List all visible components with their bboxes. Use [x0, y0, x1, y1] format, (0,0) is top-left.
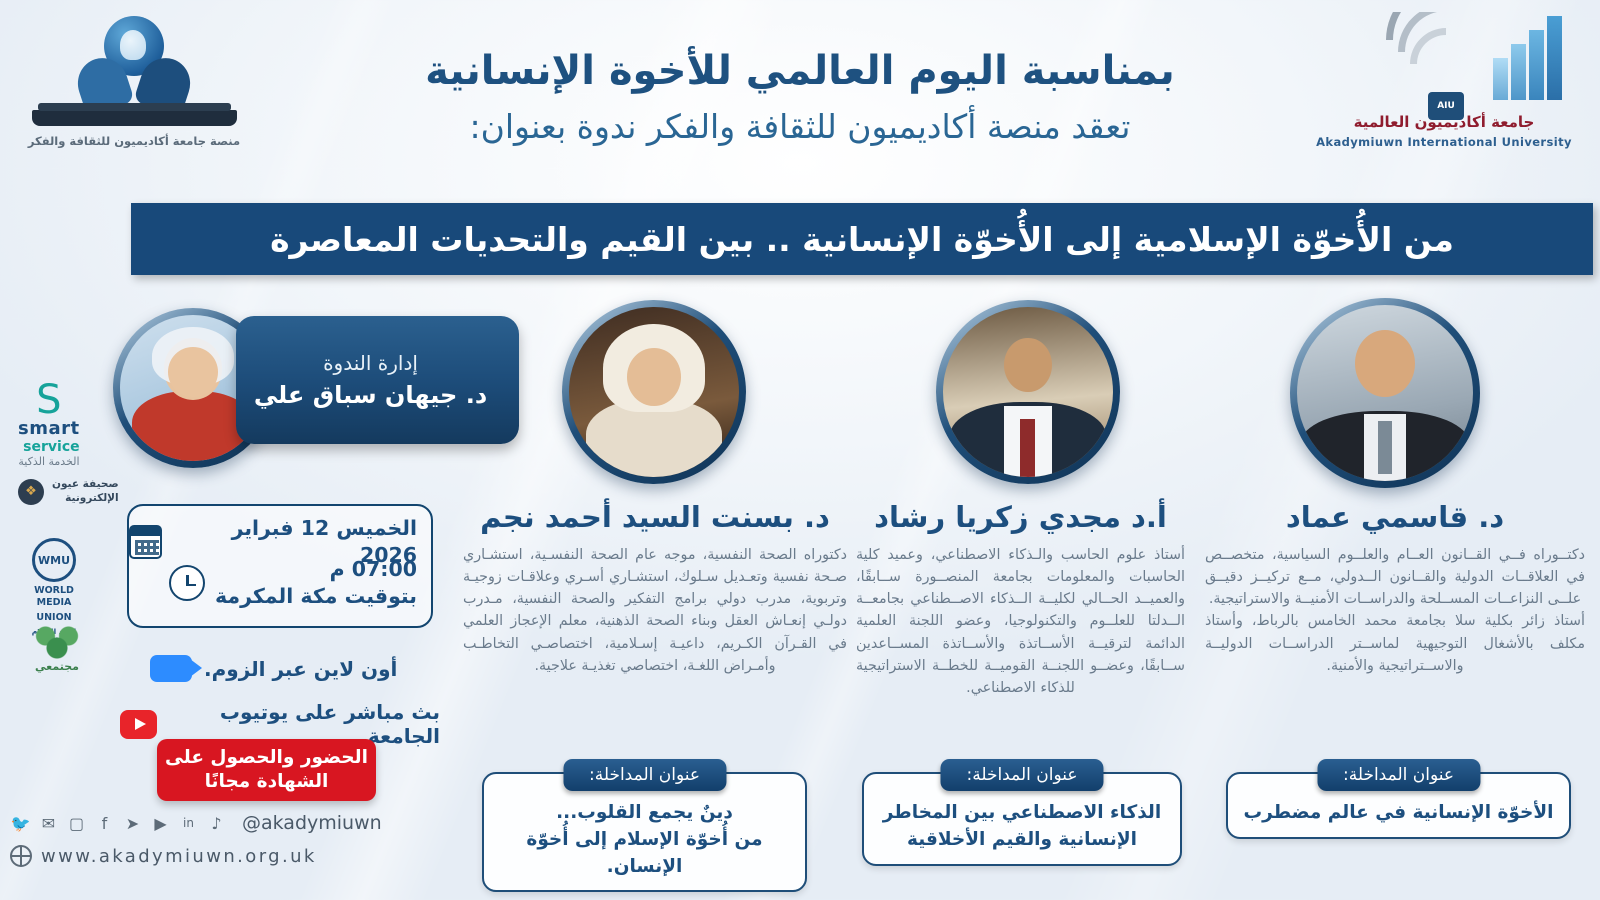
speaker-name: د. قاسمي عماد [1195, 500, 1595, 534]
talk-title: الذكاء الاصطناعي بين المخاطر الإنسانية و… [876, 800, 1168, 854]
speaker-bio: دكتوراه الصحة النفسية، موجه عام الصحة ال… [455, 544, 855, 677]
sponsor-smart-service: S smart service الخدمة الذكية [18, 382, 80, 468]
free-attendance-badge[interactable]: الحضور والحصول على الشهادة مجانًا [157, 739, 376, 801]
email-icon[interactable]: ✉ [38, 813, 59, 834]
poster-header: بمناسبة اليوم العالمي للأخوة الإنسانية ت… [0, 46, 1600, 152]
seminar-title-banner: من الأُخوّة الإسلامية إلى الأُخوّة الإنس… [131, 203, 1593, 275]
zoom-icon[interactable] [150, 655, 192, 682]
zoom-channel-row[interactable]: أون لاين عبر الزوم. [150, 655, 440, 682]
occasion-line: بمناسبة اليوم العالمي للأخوة الإنسانية [0, 46, 1600, 96]
social-handle: @akadymiuwn [242, 812, 382, 834]
youtube-icon[interactable]: ▶ [150, 813, 171, 834]
oyoun-news-line2: الإلكترونية [52, 492, 119, 506]
speaker-photo-qasmi-imad [1290, 298, 1480, 488]
calendar-icon [129, 525, 162, 559]
talk-title: دينٌ يجمع القلوب...من أُخوّة الإسلام إلى… [496, 800, 793, 880]
event-timezone: بتوقيت مكة المكرمة [215, 583, 417, 610]
event-datetime-card: الخميس 12 فبراير 2026 07:00 م بتوقيت مكة… [127, 504, 433, 628]
speaker-qasmi-imad: د. قاسمي عماد دكتــوراه فــي القــانون ا… [1195, 500, 1595, 677]
speaker-magdy-zakaria-rashad: أ.د مجدي زكريا رشاد أستاذ علوم الحاسب وا… [848, 500, 1193, 699]
speaker-bio: دكتــوراه فــي القــانون العــام والعلــ… [1195, 544, 1595, 677]
talk-title: الأخوّة الإنسانية في عالم مضطرب [1240, 800, 1557, 827]
telegram-icon[interactable]: ➤ [122, 813, 143, 834]
speaker-photo-magdy-zakaria-rashad [936, 300, 1120, 484]
event-time-block: 07:00 م بتوقيت مكة المكرمة [215, 556, 417, 609]
event-time-row: 07:00 م بتوقيت مكة المكرمة [169, 556, 417, 609]
talk-label: عنوان المداخلة: [940, 759, 1103, 791]
talk-block-magdy-zakaria-rashad: عنوان المداخلة: الذكاء الاصطناعي بين الم… [862, 772, 1182, 866]
seminar-title: من الأُخوّة الإسلامية إلى الأُخوّة الإنس… [270, 220, 1454, 259]
wmu-line1: WORLD MEDIA [18, 585, 90, 609]
sponsor-mujtamai: مجتمعي [18, 620, 96, 673]
oyoun-news-line1: صحيفة عيون [52, 478, 119, 492]
mujtamai-label: مجتمعي [18, 660, 96, 673]
event-time: 07:00 م [215, 556, 417, 583]
speaker-name: د. بسنت السيد أحمد نجم [455, 500, 855, 534]
instagram-icon[interactable]: ▢ [66, 813, 87, 834]
moderator-role: إدارة الندوة [323, 351, 418, 375]
talk-block-basant-elsayed-ahmed-negm: عنوان المداخلة: دينٌ يجمع القلوب...من أُ… [482, 772, 807, 892]
leaf-icon [34, 620, 80, 660]
moderator-badge: إدارة الندوة د. جيهان سباق علي [236, 316, 519, 444]
website-row[interactable]: www.akadymiuwn.org.uk [10, 845, 317, 867]
talk-label: عنوان المداخلة: [1317, 759, 1480, 791]
social-links[interactable]: 🐦 ✉ ▢ f ➤ ▶ in ♪ @akadymiuwn [10, 812, 382, 834]
wmu-badge-icon: WMU [32, 538, 76, 582]
speaker-basant-elsayed-ahmed-negm: د. بسنت السيد أحمد نجم دكتوراه الصحة الن… [455, 500, 855, 677]
clock-icon [169, 565, 205, 601]
speaker-name: أ.د مجدي زكريا رشاد [848, 500, 1193, 534]
talk-block-qasmi-imad: عنوان المداخلة: الأخوّة الإنسانية في عال… [1226, 772, 1571, 839]
smart-service-line2: service [18, 439, 80, 455]
talk-label: عنوان المداخلة: [563, 759, 726, 791]
free-attendance-text: الحضور والحصول على الشهادة مجانًا [157, 746, 376, 793]
tiktok-icon[interactable]: ♪ [206, 813, 227, 834]
oyoun-news-icon: ❖ [18, 479, 44, 505]
oyoun-news-text: صحيفة عيون الإلكترونية [52, 478, 119, 505]
facebook-icon[interactable]: f [94, 813, 115, 834]
speaker-bio: أستاذ علوم الحاسب والـذكاء الاصطناعي، وع… [848, 544, 1193, 699]
organizer-line: تعقد منصة أكاديميون للثقافة والفكر ندوة … [0, 102, 1600, 152]
twitter-icon[interactable]: 🐦 [10, 813, 31, 834]
linkedin-icon[interactable]: in [178, 813, 199, 834]
moderator-name: د. جيهان سباق علي [254, 381, 487, 409]
zoom-channel-text: أون لاين عبر الزوم. [204, 657, 397, 681]
smart-service-mark: S [18, 382, 80, 418]
website-url: www.akadymiuwn.org.uk [41, 846, 317, 867]
smart-service-line3: الخدمة الذكية [18, 455, 80, 468]
youtube-icon[interactable] [120, 710, 157, 739]
smart-service-line1: smart [18, 418, 80, 439]
speaker-photo-basant-elsayed-ahmed-negm [562, 300, 746, 484]
globe-icon [10, 845, 32, 867]
sponsor-oyoun-news: صحيفة عيون الإلكترونية ❖ [18, 478, 119, 505]
